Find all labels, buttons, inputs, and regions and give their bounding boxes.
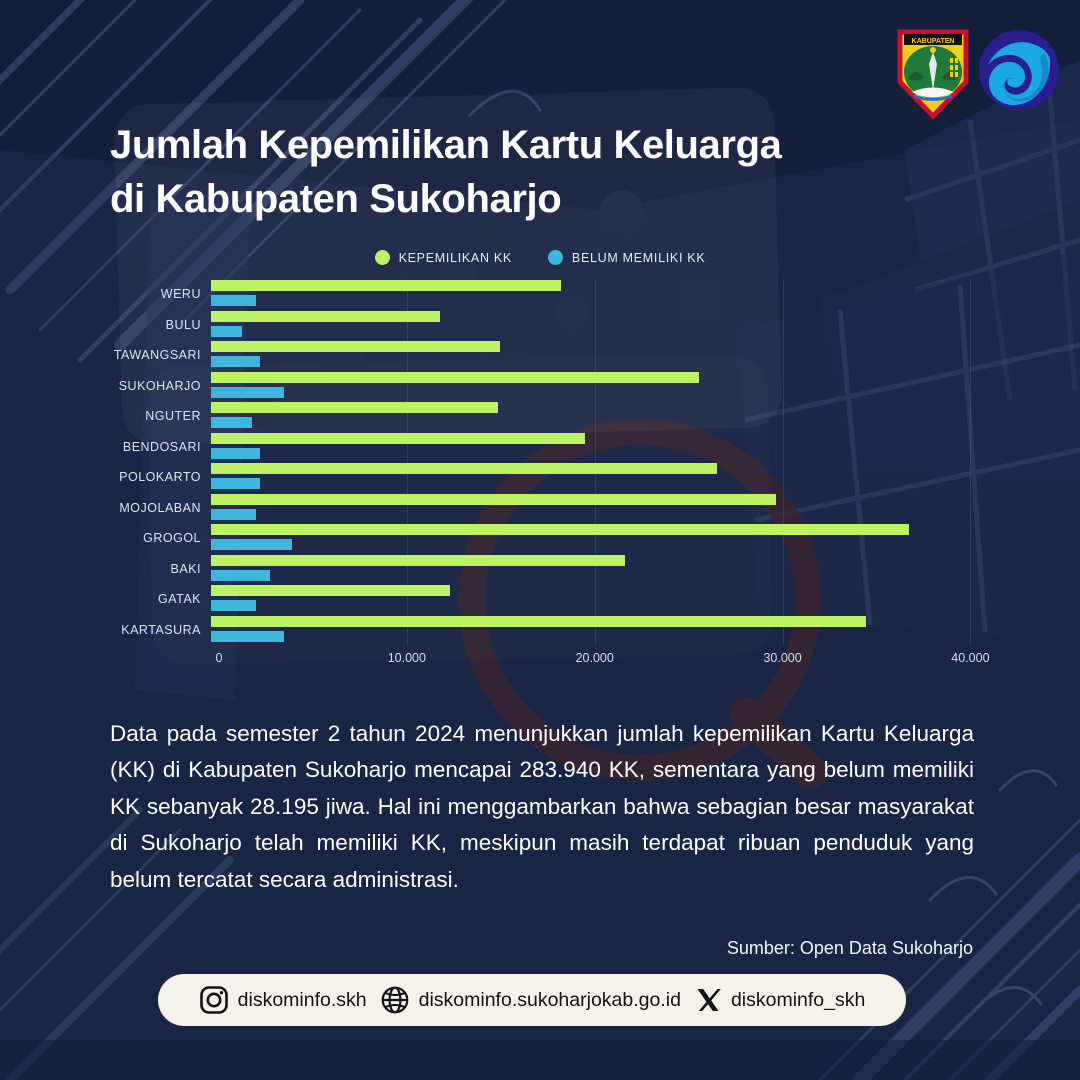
chart-row-bars [211, 340, 1080, 371]
chart-row-label: POLOKARTO [0, 470, 211, 484]
instagram-icon [199, 985, 229, 1015]
chart: KEPEMILIKAN KK BELUM MEMILIKI KK WERUBUL… [0, 250, 1080, 680]
footer-website[interactable]: diskominfo.sukoharjokab.go.id [380, 985, 681, 1015]
bar-kepemilikan-kk [211, 433, 585, 444]
chart-row-label: MOJOLABAN [0, 501, 211, 515]
chart-row-bars [211, 615, 1080, 646]
chart-row-label: GROGOL [0, 531, 211, 545]
bar-belum-memiliki-kk [211, 295, 256, 306]
chart-row-bars [211, 462, 1080, 493]
bar-kepemilikan-kk [211, 555, 625, 566]
footer-twitter-x[interactable]: diskominfo_skh [694, 986, 865, 1014]
bar-kepemilikan-kk [211, 616, 866, 627]
sukoharjo-regency-crest-icon: KABUPATEN [894, 20, 972, 120]
chart-row: BENDOSARI [0, 432, 1080, 463]
chart-row-label: BAKI [0, 562, 211, 576]
chart-row-bars [211, 554, 1080, 585]
chart-x-tick-label: 0 [216, 651, 223, 665]
chart-row-bars [211, 584, 1080, 615]
chart-row: KARTASURA [0, 615, 1080, 646]
legend-swatch-green [375, 250, 390, 265]
legend-label-belum-memiliki: BELUM MEMILIKI KK [572, 251, 705, 265]
bar-belum-memiliki-kk [211, 326, 242, 337]
title-line-2: di Kabupaten Sukoharjo [110, 172, 870, 226]
chart-row-bars [211, 310, 1080, 341]
chart-row: GROGOL [0, 523, 1080, 554]
chart-x-tick-label: 20.000 [576, 651, 614, 665]
bar-belum-memiliki-kk [211, 448, 260, 459]
chart-row-label: WERU [0, 287, 211, 301]
chart-row-bars [211, 371, 1080, 402]
bar-kepemilikan-kk [211, 402, 498, 413]
chart-row-bars [211, 493, 1080, 524]
title-line-1: Jumlah Kepemilikan Kartu Keluarga [110, 118, 870, 172]
chart-row: GATAK [0, 584, 1080, 615]
footer-website-label: diskominfo.sukoharjokab.go.id [419, 989, 681, 1012]
chart-row-label: BENDOSARI [0, 440, 211, 454]
bar-belum-memiliki-kk [211, 417, 252, 428]
legend-label-kepemilikan: KEPEMILIKAN KK [399, 251, 512, 265]
body-paragraph: Data pada semester 2 tahun 2024 menunjuk… [110, 716, 974, 898]
bar-belum-memiliki-kk [211, 631, 284, 642]
footer-instagram[interactable]: diskominfo.skh [199, 985, 367, 1015]
chart-row-label: SUKOHARJO [0, 379, 211, 393]
bar-belum-memiliki-kk [211, 600, 256, 611]
social-footer-bar: diskominfo.skh diskominfo.sukoharjokab.g… [158, 974, 906, 1026]
kominfo-wave-logo-icon [978, 29, 1060, 111]
bar-belum-memiliki-kk [211, 356, 260, 367]
legend-swatch-cyan [548, 250, 563, 265]
logo-group: KABUPATEN [894, 20, 1060, 120]
chart-x-tick-label: 10.000 [388, 651, 426, 665]
bar-kepemilikan-kk [211, 341, 500, 352]
chart-row-bars [211, 432, 1080, 463]
globe-icon [380, 985, 410, 1015]
chart-row-bars [211, 279, 1080, 310]
chart-row-label: TAWANGSARI [0, 348, 211, 362]
bar-belum-memiliki-kk [211, 478, 260, 489]
chart-row-label: BULU [0, 318, 211, 332]
chart-row-label: GATAK [0, 592, 211, 606]
chart-x-tick-label: 40.000 [951, 651, 989, 665]
bar-kepemilikan-kk [211, 524, 909, 535]
footer-instagram-label: diskominfo.skh [238, 989, 367, 1012]
source-note: Sumber: Open Data Sukoharjo [727, 938, 973, 959]
chart-row-bars [211, 401, 1080, 432]
chart-row: BAKI [0, 554, 1080, 585]
bar-belum-memiliki-kk [211, 387, 284, 398]
chart-row: TAWANGSARI [0, 340, 1080, 371]
chart-row: NGUTER [0, 401, 1080, 432]
bar-belum-memiliki-kk [211, 539, 292, 550]
bar-kepemilikan-kk [211, 494, 776, 505]
bar-kepemilikan-kk [211, 311, 440, 322]
chart-row: BULU [0, 310, 1080, 341]
legend-item-belum-memiliki: BELUM MEMILIKI KK [548, 250, 705, 265]
chart-row: SUKOHARJO [0, 371, 1080, 402]
chart-row-label: NGUTER [0, 409, 211, 423]
legend-item-kepemilikan: KEPEMILIKAN KK [375, 250, 512, 265]
bar-kepemilikan-kk [211, 463, 717, 474]
bar-kepemilikan-kk [211, 372, 699, 383]
body-paragraph-text: Data pada semester 2 tahun 2024 menunjuk… [110, 716, 974, 898]
bar-kepemilikan-kk [211, 585, 450, 596]
page-title: Jumlah Kepemilikan Kartu Keluarga di Kab… [110, 118, 870, 226]
bar-belum-memiliki-kk [211, 570, 270, 581]
chart-rows: WERUBULUTAWANGSARISUKOHARJONGUTERBENDOSA… [0, 279, 1080, 645]
chart-row: MOJOLABAN [0, 493, 1080, 524]
bar-belum-memiliki-kk [211, 509, 256, 520]
chart-row: WERU [0, 279, 1080, 310]
chart-legend: KEPEMILIKAN KK BELUM MEMILIKI KK [0, 250, 1080, 265]
footer-twitter-label: diskominfo_skh [731, 989, 865, 1012]
chart-row-bars [211, 523, 1080, 554]
chart-row: POLOKARTO [0, 462, 1080, 493]
chart-x-axis: 010.00020.00030.00040.000 [0, 645, 1080, 675]
chart-plot-area: WERUBULUTAWANGSARISUKOHARJONGUTERBENDOSA… [0, 279, 1080, 645]
svg-text:KABUPATEN: KABUPATEN [912, 38, 955, 45]
chart-row-label: KARTASURA [0, 623, 211, 637]
x-twitter-icon [694, 986, 722, 1014]
chart-x-tick-label: 30.000 [763, 651, 801, 665]
bar-kepemilikan-kk [211, 280, 561, 291]
